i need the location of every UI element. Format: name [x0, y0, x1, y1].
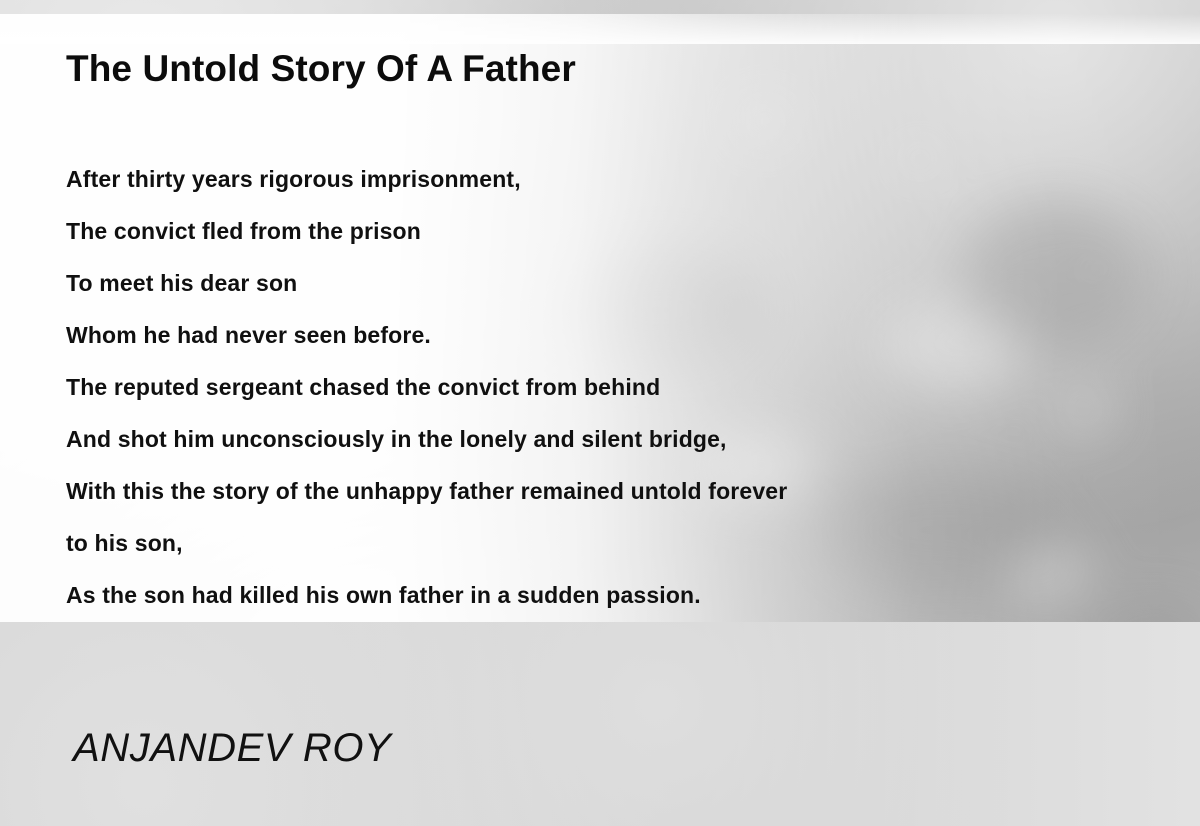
poem-line: The reputed sergeant chased the convict … [66, 361, 1166, 413]
page-title: The Untold Story Of A Father [66, 48, 576, 90]
poem-line: To meet his dear son [66, 257, 1166, 309]
poem-body: After thirty years rigorous imprisonment… [66, 153, 1166, 621]
poem-line: And shot him unconsciously in the lonely… [66, 413, 1166, 465]
poem-line: With this the story of the unhappy fathe… [66, 465, 1166, 517]
poem-line: As the son had killed his own father in … [66, 569, 1166, 621]
poem-line: Whom he had never seen before. [66, 309, 1166, 361]
poem-content: The Untold Story Of A Father After thirt… [0, 0, 1200, 826]
poem-line: The convict fled from the prison [66, 205, 1166, 257]
poem-line: After thirty years rigorous imprisonment… [66, 153, 1166, 205]
poem-image-card: The Untold Story Of A Father After thirt… [0, 0, 1200, 826]
poem-line: to his son, [66, 517, 1166, 569]
author-name: ANJANDEV ROY [73, 726, 391, 771]
